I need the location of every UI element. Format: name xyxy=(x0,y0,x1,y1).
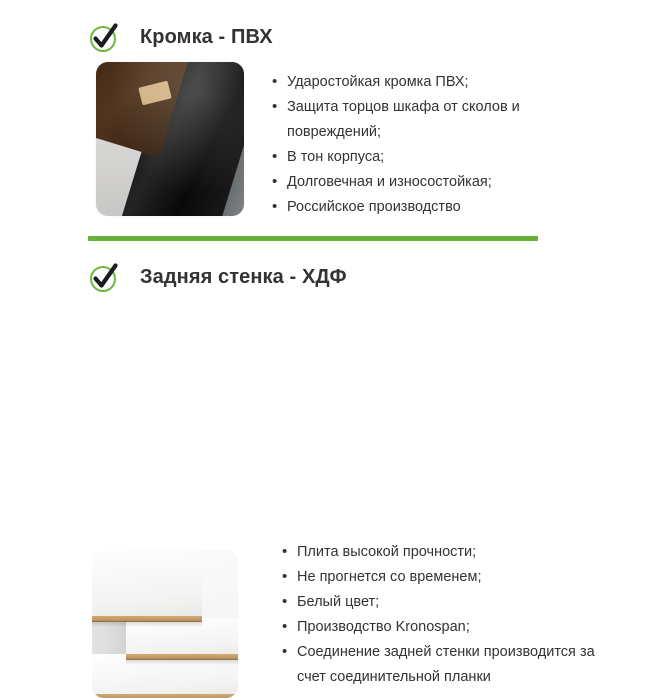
section-title-hdf: Задняя стенка - ХДФ xyxy=(140,265,347,289)
list-item: В тон корпуса; xyxy=(272,145,592,170)
hdf-board-edge-shadow xyxy=(126,659,238,665)
pvc-band-oak-highlight xyxy=(96,62,244,216)
hdf-board-edge-shadow xyxy=(92,621,202,627)
list-item: Плита высокой прочности; xyxy=(282,540,602,565)
section-heading-pvc: Кромка - ПВХ xyxy=(88,20,273,54)
list-item: Не прогнется со временем; xyxy=(282,565,602,590)
feature-list-pvc: Ударостойкая кромка ПВХ; Защита торцов ш… xyxy=(272,70,592,220)
list-item: Долговечная и износостойкая; xyxy=(272,170,592,195)
list-item: Производство Kronospan; xyxy=(282,615,602,640)
feature-list-hdf: Плита высокой прочности; Не прогнется со… xyxy=(282,540,602,690)
check-circle-icon xyxy=(88,20,122,54)
list-item: Ударостойкая кромка ПВХ; xyxy=(272,70,592,95)
image-pvc-edge-banding xyxy=(96,62,244,216)
check-circle-icon xyxy=(88,260,122,294)
hdf-board-edge xyxy=(92,694,238,698)
list-item: Защита торцов шкафа от сколов и поврежде… xyxy=(272,95,592,144)
section-heading-hdf: Задняя стенка - ХДФ xyxy=(88,260,347,294)
section-divider xyxy=(88,236,538,241)
list-item: Белый цвет; xyxy=(282,590,602,615)
section-title-pvc: Кромка - ПВХ xyxy=(140,25,273,49)
pvc-image-canvas xyxy=(96,62,244,216)
list-item: Российское производство xyxy=(272,195,592,220)
hdf-board-top xyxy=(92,550,202,616)
list-item: Соединение задней стенки производится за… xyxy=(282,640,602,689)
image-hdf-panels xyxy=(92,550,238,698)
hdf-image-canvas xyxy=(92,550,238,698)
feature-highlights-page: Кромка - ПВХ Ударостойкая кромка ПВХ; За… xyxy=(0,0,652,500)
